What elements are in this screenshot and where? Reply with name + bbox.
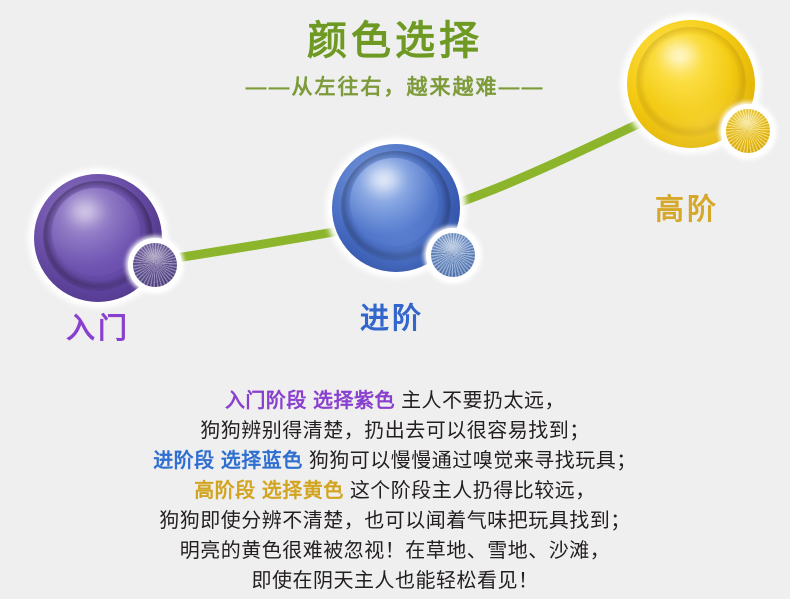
intermediate-mini-ball[interactable] — [431, 233, 475, 277]
description-line: 进阶段 选择蓝色 狗狗可以慢慢通过嗅觉来寻找玩具； — [0, 446, 790, 476]
description-line: 狗狗辨别得清楚，扔出去可以很容易找到； — [0, 416, 790, 446]
advanced-mini-ball-frame — [721, 104, 775, 158]
stage-intermediate-group[interactable] — [318, 130, 518, 310]
beginner-mini-ball[interactable] — [133, 243, 177, 287]
description-segment: 选择蓝色 — [221, 450, 309, 472]
description-segment: 选择黄色 — [262, 480, 350, 502]
poster-canvas: 颜色选择 ——从左往右，越来越难—— 入门 — [0, 0, 790, 599]
description-segment: 高阶段 — [194, 480, 262, 502]
description-segment: 进阶段 — [153, 450, 221, 472]
stage-label-advanced: 高阶 — [655, 186, 719, 228]
description-line: 入门阶段 选择紫色 主人不要扔太远， — [0, 386, 790, 416]
description-segment: 主人不要扔太远， — [401, 390, 565, 412]
description-line: 即使在阴天主人也能轻松看见！ — [0, 566, 790, 596]
description-segment: 即使在阴天主人也能轻松看见！ — [252, 570, 539, 592]
intermediate-mini-ball-frame — [426, 228, 480, 282]
stage-label-beginner: 入门 — [66, 305, 130, 347]
beginner-mini-ball-frame — [128, 238, 182, 292]
description-segment: 狗狗可以慢慢通过嗅觉来寻找玩具； — [309, 450, 637, 472]
beginner-mini-ball-highlight — [143, 249, 167, 263]
description-segment: 入门阶段 — [225, 390, 313, 412]
description-segment: 狗狗辨别得清楚，扔出去可以很容易找到； — [200, 420, 590, 442]
stage-label-intermediate: 进阶 — [360, 295, 424, 337]
description-segment: 狗狗即使分辨不清楚，也可以闻着气味把玩具找到； — [159, 510, 631, 532]
stage-advanced-group[interactable] — [613, 6, 790, 186]
description-line: 狗狗即使分辨不清楚，也可以闻着气味把玩具找到； — [0, 506, 790, 536]
description-line: 高阶段 选择黄色 这个阶段主人扔得比较远， — [0, 476, 790, 506]
advanced-mini-ball[interactable] — [726, 109, 770, 153]
description-line: 明亮的黄色很难被忽视！在草地、雪地、沙滩， — [0, 536, 790, 566]
advanced-mini-ball-highlight — [736, 115, 760, 129]
intermediate-mini-ball-highlight — [441, 239, 465, 253]
description-segment: 明亮的黄色很难被忽视！在草地、雪地、沙滩， — [180, 540, 611, 562]
description-block: 入门阶段 选择紫色 主人不要扔太远，狗狗辨别得清楚，扔出去可以很容易找到；进阶段… — [0, 386, 790, 596]
description-segment: 选择紫色 — [313, 390, 401, 412]
description-segment: 这个阶段主人扔得比较远， — [350, 480, 596, 502]
